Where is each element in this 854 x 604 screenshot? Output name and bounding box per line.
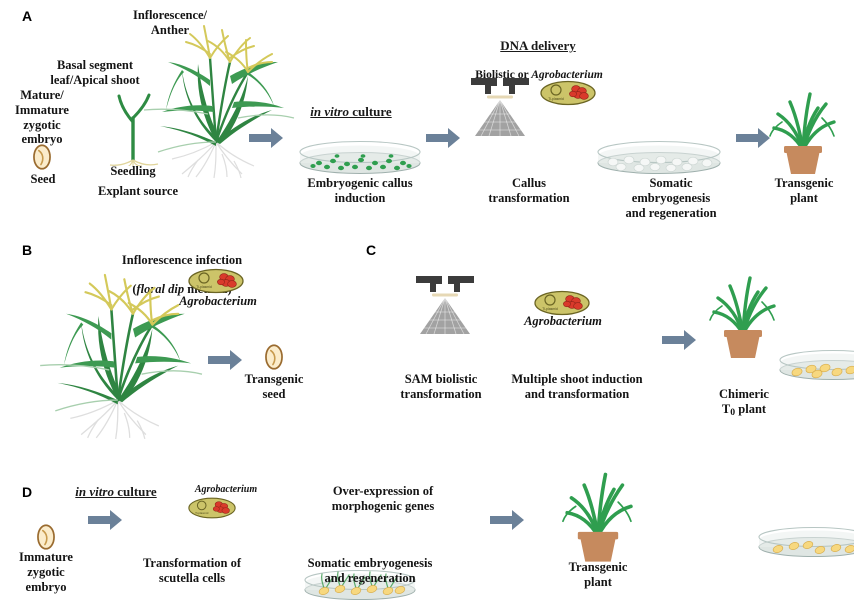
ti-plasmid-label-a: Ti-plasmid — [548, 97, 564, 101]
agrobacterium-icon-d: Ti-plasmid — [188, 496, 236, 520]
label-sam-biolistic-transformation: SAM biolistic transformation — [382, 372, 500, 402]
in-vitro-italic-a: in vitro — [310, 104, 349, 119]
label-agrobacterium-c: Agrobacterium — [520, 314, 606, 329]
label-transgenic-seed: Transgenic seed — [230, 372, 318, 402]
heading-in-vitro-culture-a: in vitro culture — [288, 104, 414, 120]
label-transgenic-plant-d: Transgenic plant — [548, 560, 648, 590]
panel-letter-d: D — [22, 484, 32, 500]
label-zygotic-embryo: Mature/ Immature zygotic embryo — [8, 88, 76, 147]
seed-icon-a — [30, 142, 54, 172]
callus-transformation-dish — [595, 136, 723, 176]
agrobacterium-icon-c: Ti-plasmid — [534, 290, 590, 316]
dna-delivery-text: DNA delivery — [500, 38, 575, 53]
label-immature-zygotic-embryo: Immature zygotic embryo — [10, 550, 82, 594]
heading-in-vitro-culture-d: in vitro culture — [58, 484, 174, 500]
potted-chimeric-plant-c — [700, 268, 786, 364]
potted-transgenic-plant-a — [760, 84, 846, 180]
arrow-right-c1 — [662, 330, 696, 350]
panel-letter-a: A — [22, 8, 32, 24]
label-over-expression-morphogenic: Over-expression of morphogenic genes — [300, 484, 466, 514]
transgenic-seed-icon — [262, 342, 286, 372]
label-callus-transformation: Callus transformation — [466, 176, 592, 206]
label-seed: Seed — [10, 172, 76, 187]
ti-plasmid-label-c: Ti-plasmid — [542, 307, 558, 311]
in-vitro-rest-a: culture — [349, 104, 392, 119]
agrobacterium-icon-a: Ti-plasmid — [540, 80, 596, 106]
panel-letter-b: B — [22, 242, 32, 258]
label-somatic-embryogenesis-a: Somatic embryogenesis and regeneration — [606, 176, 736, 220]
arrow-right-a2 — [426, 128, 460, 148]
potted-transgenic-plant-d — [552, 466, 644, 568]
grass-plant-b — [26, 262, 214, 440]
label-embryogenic-callus-induction: Embryogenic callus induction — [288, 176, 432, 206]
label-multiple-shoot-induction: Multiple shoot induction and transformat… — [498, 372, 656, 402]
arrow-right-d2 — [490, 510, 524, 530]
scutella-transformation-dish — [756, 522, 854, 560]
label-transformation-scutella: Transformation of scutella cells — [130, 556, 254, 586]
label-chimeric-t0-plant: Chimeric T0 plant — [694, 372, 794, 418]
arrow-right-b1 — [208, 350, 242, 370]
embryogenic-callus-dish — [297, 136, 423, 176]
immature-embryo-icon-d — [34, 522, 58, 552]
arrow-right-a1 — [249, 128, 283, 148]
label-transgenic-plant-a: Transgenic plant — [756, 176, 852, 206]
arrow-right-d1 — [88, 510, 122, 530]
label-somatic-embryogenesis-d: Somatic embryogenesis and regeneration — [290, 556, 450, 586]
biolistic-gun-icon-a — [467, 74, 533, 140]
label-explant-source: Explant source — [78, 184, 198, 199]
grass-plant-a — [138, 14, 298, 179]
panel-letter-c: C — [366, 242, 376, 258]
ti-plasmid-label-d: Ti-plasmid — [195, 511, 209, 515]
biolistic-agro-text: Agrobacterium — [531, 69, 603, 81]
chimeric-post-text: plant — [735, 402, 766, 416]
in-vitro-italic-d: in vitro — [75, 484, 114, 499]
heading-dna-delivery: DNA delivery — [468, 38, 608, 54]
figure-canvas: A Inflorescence/ Anther Basal segment le… — [0, 0, 854, 604]
in-vitro-rest-d: culture — [114, 484, 157, 499]
biolistic-gun-icon-c — [412, 272, 478, 338]
label-agrobacterium-d: Agrobacterium — [178, 484, 274, 496]
